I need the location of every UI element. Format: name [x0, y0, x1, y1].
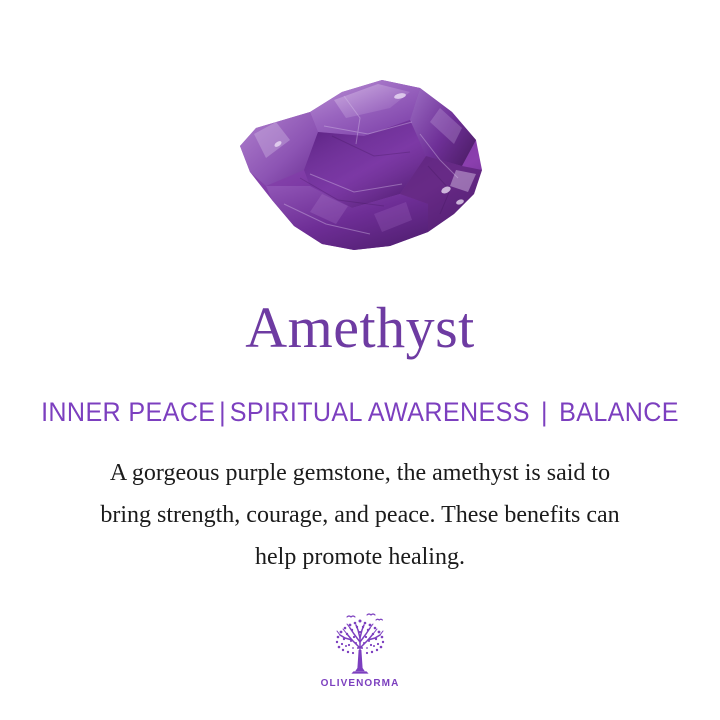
- keyword-spiritual-awareness: SPIRITUAL AWARENESS: [230, 397, 530, 427]
- amethyst-crystal-image: [214, 74, 500, 264]
- keyword-separator: |: [215, 396, 229, 428]
- description-line-3: help promote healing.: [50, 536, 670, 578]
- brand-logo: OLIVENORMA: [0, 612, 720, 689]
- keyword-balance: BALANCE: [559, 397, 679, 427]
- page-title: Amethyst: [0, 296, 720, 360]
- keyword-separator: |: [530, 396, 559, 428]
- description-text: A gorgeous purple gemstone, the amethyst…: [50, 452, 670, 578]
- amethyst-info-card: Amethyst INNER PEACE|SPIRITUAL AWARENESS…: [0, 0, 720, 720]
- description-line-2: bring strength, courage, and peace. Thes…: [50, 494, 670, 536]
- keyword-line: INNER PEACE|SPIRITUAL AWARENESS|BALANCE: [25, 396, 695, 428]
- description-line-1: A gorgeous purple gemstone, the amethyst…: [50, 452, 670, 494]
- keyword-inner-peace: INNER PEACE: [41, 397, 215, 427]
- tree-of-life-icon: [327, 612, 393, 676]
- brand-wordmark: OLIVENORMA: [0, 678, 720, 689]
- hero-image-area: [0, 62, 720, 280]
